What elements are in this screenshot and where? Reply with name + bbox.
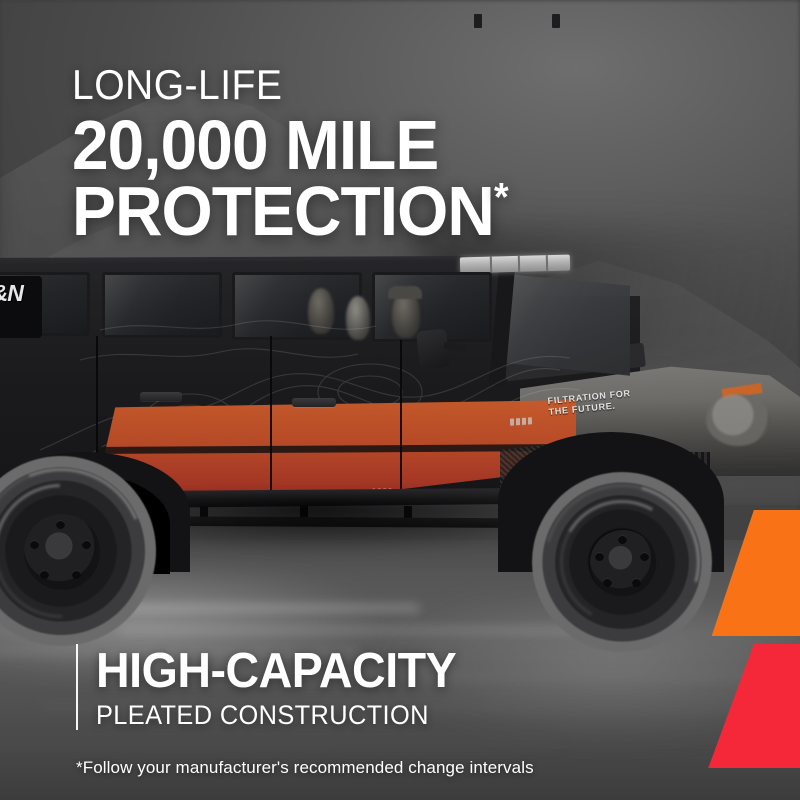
subhead-block: HIGH-CAPACITY PLEATED CONSTRUCTION	[76, 644, 475, 730]
advertisement-banner: K&N 1990	[0, 0, 800, 800]
headline-line-2-text: PROTECTION	[72, 172, 494, 250]
vertical-divider-rule	[76, 644, 78, 730]
subhead-text-group: HIGH-CAPACITY PLEATED CONSTRUCTION	[96, 644, 475, 730]
headline-line-2: PROTECTION*	[72, 178, 508, 244]
windshield	[500, 268, 630, 378]
headline-block: LONG-LIFE 20,000 MILE PROTECTION*	[72, 62, 535, 244]
kn-logo-decal: K&N	[0, 276, 42, 338]
occupant-cap	[388, 286, 422, 299]
vehicle-window	[232, 272, 362, 340]
headline-kicker: LONG-LIFE	[72, 62, 503, 108]
vehicle-window	[102, 272, 222, 338]
headline-asterisk: *	[494, 176, 508, 220]
side-mirror	[416, 329, 450, 370]
occupant-silhouette	[308, 288, 334, 334]
roof-light-bar	[460, 255, 570, 274]
occupant-silhouette	[346, 296, 370, 340]
light-bar-mount	[474, 14, 482, 28]
headline-line-1: 20,000 MILE	[72, 112, 508, 178]
door-handle	[292, 398, 336, 407]
light-bar-mount	[552, 14, 560, 28]
disclaimer-text: *Follow your manufacturer's recommended …	[76, 758, 534, 778]
door-seam	[270, 336, 272, 496]
front-wheel-arch-highlight	[706, 394, 770, 446]
subhead-line-1: HIGH-CAPACITY	[96, 644, 456, 698]
door-handle	[140, 392, 182, 401]
kn-logo-text: K&N	[0, 280, 23, 306]
subhead-line-2: PLEATED CONSTRUCTION	[96, 700, 452, 730]
door-seam	[400, 340, 402, 498]
glass-reflection	[500, 268, 630, 378]
